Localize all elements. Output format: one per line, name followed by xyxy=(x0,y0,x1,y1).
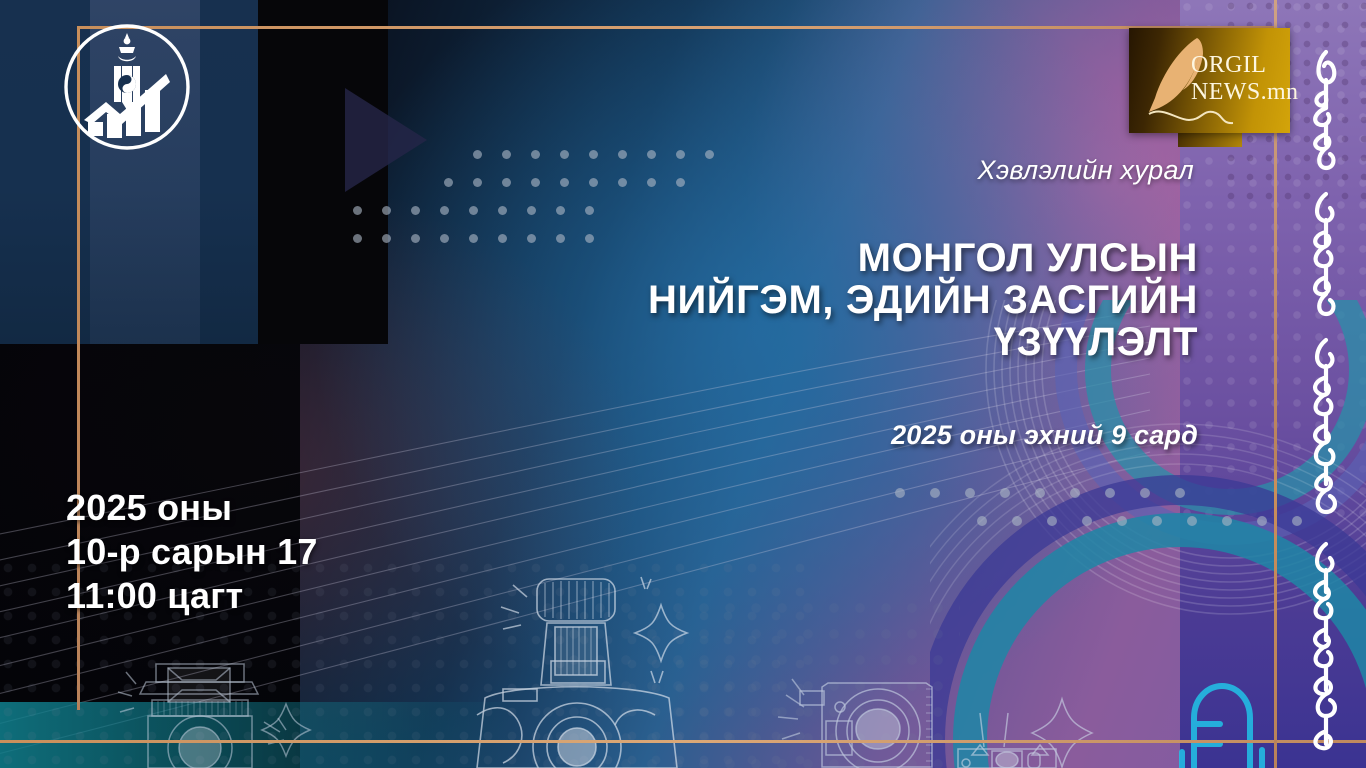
orgil-logo-line2: NEWS.mn xyxy=(1191,79,1298,106)
title-line-2: НИЙГЭМ, ЭДИЙН ЗАСГИЙН xyxy=(458,284,1198,317)
event-time: 11:00 цагт xyxy=(66,574,318,618)
orgil-logo-tail xyxy=(1178,133,1242,147)
title-line-3: ҮЗҮҮЛЭЛТ xyxy=(458,326,1198,359)
title-line-1: МОНГОЛ УЛСЫН xyxy=(458,242,1198,275)
camera-with-flash-icon xyxy=(455,565,715,768)
kicker-label: Хэвлэлийн хурал xyxy=(978,155,1194,186)
frame-line-top xyxy=(77,26,1276,29)
page-subtitle: 2025 оны эхний 9 сард xyxy=(891,420,1198,451)
play-triangle-icon xyxy=(345,88,427,192)
microphone-icon xyxy=(1168,672,1276,768)
frame-line-right-lower xyxy=(1274,470,1277,768)
orgil-logo-line1: ORGIL xyxy=(1191,52,1298,79)
mongolia-statistics-emblem xyxy=(62,22,192,152)
traditional-mongolian-script xyxy=(1296,44,1360,760)
orgil-news-logo[interactable]: ORGIL NEWS.mn xyxy=(1129,28,1290,133)
frame-line-bottom xyxy=(0,740,1366,743)
page-title: МОНГОЛ УЛСЫН НИЙГЭМ, ЭДИЙН ЗАСГИЙН ҮЗҮҮЛ… xyxy=(458,242,1198,368)
event-year: 2025 оны xyxy=(66,486,318,530)
twin-lens-camera-icon xyxy=(100,660,330,768)
event-date: 10-р сарын 17 xyxy=(66,530,318,574)
event-datetime: 2025 оны 10-р сарын 17 11:00 цагт xyxy=(66,486,318,618)
instant-camera-icon xyxy=(770,655,1190,768)
title-card-stage: ORGIL NEWS.mn xyxy=(0,0,1366,768)
orgil-logo-text: ORGIL NEWS.mn xyxy=(1191,52,1298,106)
